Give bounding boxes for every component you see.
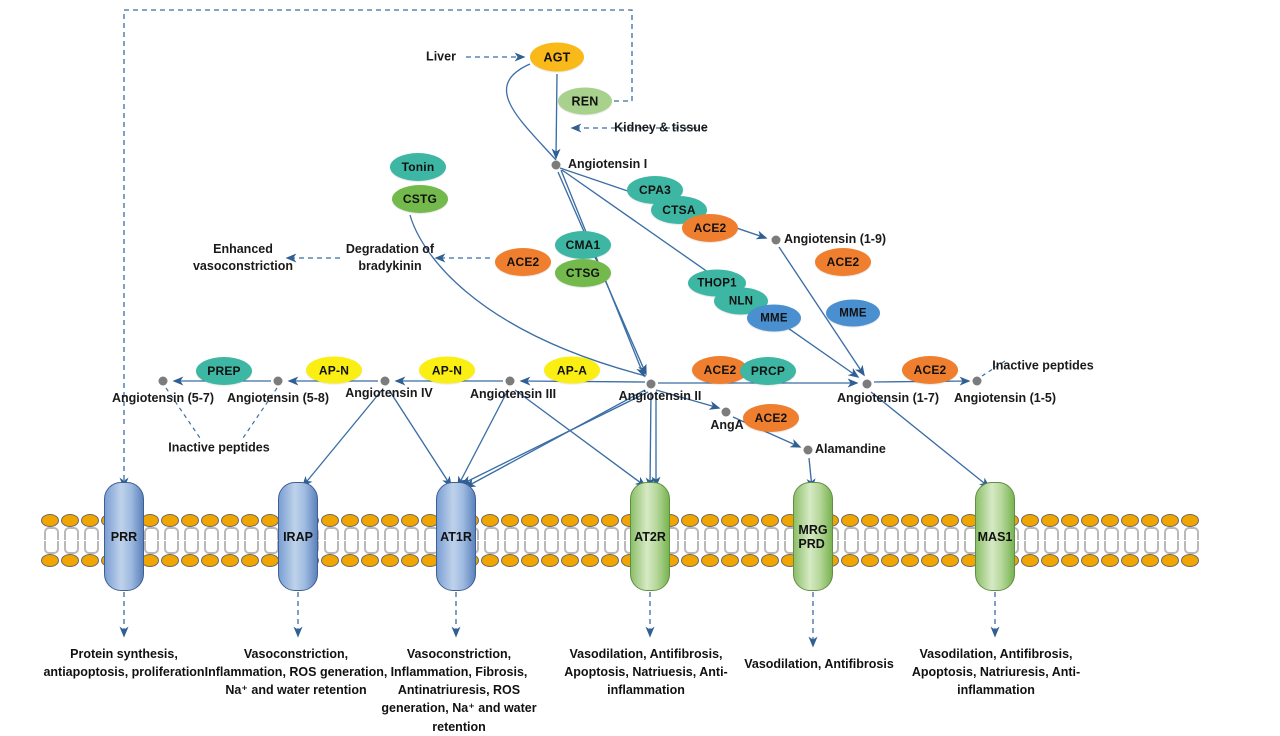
lipid-tail	[60, 527, 80, 554]
metabolite-dot-ang3[interactable]	[506, 377, 515, 386]
metabolite-label-alaman: Alamandine	[815, 442, 886, 456]
lipid-head	[1080, 553, 1100, 568]
lipid-head	[600, 553, 620, 568]
enzyme-label: PRCP	[751, 364, 785, 378]
lipid-head	[160, 553, 180, 568]
lipid-tail	[740, 527, 760, 554]
enzyme-label: MME	[839, 307, 866, 319]
lipid-tail	[240, 527, 260, 554]
lipid-head	[1140, 553, 1160, 568]
receptor-at2r[interactable]: AT2R	[630, 482, 670, 591]
annotation-inactive-right: Inactive peptides	[992, 358, 1093, 375]
metabolite-dot-ang1[interactable]	[552, 161, 561, 170]
lipid-head	[260, 553, 280, 568]
lipid-head	[760, 553, 780, 568]
lipid-tail	[480, 527, 500, 554]
metabolite-dot-alaman[interactable]	[804, 446, 813, 455]
lipid-head	[400, 553, 420, 568]
lipid-head	[920, 553, 940, 568]
annotation-enhanced-vc: Enhancedvasoconstriction	[193, 241, 293, 275]
lipid-head	[940, 553, 960, 568]
lipid-head	[1100, 513, 1120, 528]
enzyme-label: AP-A	[557, 363, 587, 377]
lipid-head	[860, 553, 880, 568]
metabolite-dot-ang1-7[interactable]	[863, 380, 872, 389]
receptor-mas1[interactable]: MAS1	[975, 482, 1015, 591]
lipid-head	[320, 513, 340, 528]
enzyme-label: Tonin	[402, 160, 435, 174]
enzyme-label: REN	[572, 94, 599, 108]
lipid-head	[880, 553, 900, 568]
lipid-tail	[1120, 527, 1140, 554]
lipid-head	[1180, 513, 1200, 528]
enzyme-label: NLN	[729, 295, 753, 307]
lipid-head	[1160, 553, 1180, 568]
enzyme-node-cstg[interactable]: CSTG	[392, 185, 448, 213]
enzyme-node-ren[interactable]: REN	[558, 88, 612, 115]
metabolite-label-ang1: Angiotensin I	[568, 157, 647, 171]
lipid-head	[380, 553, 400, 568]
lipid-head	[1140, 513, 1160, 528]
receptor-label: PRR	[111, 530, 137, 544]
effect-text-mrgprd-effect: Vasodilation, Antifibrosis	[719, 655, 919, 673]
lipid-tail	[180, 527, 200, 554]
annotation-inactive-left: Inactive peptides	[168, 440, 269, 457]
lipid-head	[1020, 513, 1040, 528]
lipid-tail	[1080, 527, 1100, 554]
lipid-head	[720, 553, 740, 568]
lipid-head	[680, 513, 700, 528]
lipid-head	[480, 553, 500, 568]
enzyme-node-ace2-1-9[interactable]: ACE2	[682, 214, 738, 242]
lipid-tail	[160, 527, 180, 554]
enzyme-label: ACE2	[704, 363, 737, 377]
receptor-label: AT1R	[440, 530, 472, 544]
enzyme-node-mme-1[interactable]: MME	[747, 305, 801, 332]
annotation-kidney: Kidney & tissue	[614, 120, 708, 137]
metabolite-dot-ang5-8[interactable]	[274, 377, 283, 386]
ras-pathway-diagram: AGTRENToninCSTGCPA3CTSAACE2CMA1CTSGACE2T…	[0, 0, 1280, 720]
effect-text-at2r-effect: Vasodilation, Antifibrosis, Apoptosis, N…	[561, 645, 731, 699]
lipid-head	[1120, 553, 1140, 568]
enzyme-node-apn-2[interactable]: AP-N	[419, 357, 475, 384]
lipid-tail	[340, 527, 360, 554]
membrane-inner-heads	[40, 553, 1200, 568]
receptor-label: MRGPRD	[798, 523, 827, 551]
metabolite-label-ang1-5: Angiotensin (1-5)	[954, 391, 1056, 405]
lipid-bilayer-membrane	[40, 513, 1200, 568]
enzyme-label: ACE2	[694, 221, 727, 235]
annotation-degradation: Degradation ofbradykinin	[346, 241, 434, 275]
lipid-head	[180, 553, 200, 568]
lipid-tail	[80, 527, 100, 554]
lipid-head	[1060, 553, 1080, 568]
lipid-head	[940, 513, 960, 528]
lipid-head	[540, 513, 560, 528]
lipid-head	[480, 513, 500, 528]
receptor-label: AT2R	[634, 530, 666, 544]
annotation-liver: Liver	[426, 49, 456, 66]
enzyme-label: AP-N	[319, 363, 349, 377]
lipid-tail	[900, 527, 920, 554]
lipid-head	[500, 553, 520, 568]
lipid-head	[900, 513, 920, 528]
enzyme-label: ACE2	[827, 255, 860, 269]
lipid-head	[40, 553, 60, 568]
lipid-tail	[860, 527, 880, 554]
lipid-head	[80, 553, 100, 568]
lipid-tail	[920, 527, 940, 554]
lipid-head	[40, 513, 60, 528]
lipid-head	[400, 513, 420, 528]
lipid-head	[220, 513, 240, 528]
metabolite-label-ang3: Angiotensin III	[470, 387, 556, 401]
metabolite-label-anga: AngA	[710, 418, 743, 432]
lipid-tail	[360, 527, 380, 554]
enzyme-node-tonin[interactable]: Tonin	[390, 153, 446, 181]
lipid-tail	[520, 527, 540, 554]
lipid-head	[200, 513, 220, 528]
lipid-head	[880, 513, 900, 528]
lipid-head	[860, 513, 880, 528]
lipid-head	[900, 553, 920, 568]
lipid-tail	[560, 527, 580, 554]
effect-text-prr-effect: Protein synthesis, antiapoptosis, prolif…	[29, 645, 219, 681]
effect-text-mas1-effect: Vasodilation, Antifibrosis, Apoptosis, N…	[906, 645, 1086, 699]
lipid-tail	[720, 527, 740, 554]
enzyme-node-ace2-mme[interactable]: ACE2	[815, 248, 871, 276]
lipid-head	[560, 513, 580, 528]
lipid-head	[1180, 553, 1200, 568]
lipid-tail	[380, 527, 400, 554]
lipid-tail	[840, 527, 860, 554]
enzyme-node-cma1[interactable]: CMA1	[555, 231, 611, 259]
lipid-head	[60, 553, 80, 568]
enzyme-node-apa[interactable]: AP-A	[544, 357, 600, 384]
enzyme-label: CPA3	[639, 183, 671, 197]
enzyme-label: ACE2	[755, 411, 788, 425]
lipid-tail	[320, 527, 340, 554]
lipid-head	[240, 513, 260, 528]
metabolite-dot-ang2[interactable]	[647, 380, 656, 389]
metabolite-label-ang1-9: Angiotensin (1-9)	[784, 232, 886, 246]
lipid-tail	[200, 527, 220, 554]
lipid-head	[160, 513, 180, 528]
enzyme-label: CTSA	[662, 203, 695, 217]
lipid-head	[360, 553, 380, 568]
metabolite-label-ang4: Angiotensin IV	[345, 386, 433, 400]
enzyme-label: MME	[760, 312, 787, 324]
effect-text-irap-effect: Vasoconstriction, Inflammation, ROS gene…	[204, 645, 389, 699]
metabolite-label-ang5-7: Angiotensin (5-7)	[112, 391, 214, 405]
metabolite-label-ang2: Angiotensin II	[619, 389, 702, 403]
enzyme-label: CSTG	[403, 192, 437, 206]
metabolite-dot-ang5-7[interactable]	[159, 377, 168, 386]
membrane-outer-heads	[40, 513, 1200, 528]
lipid-tail	[580, 527, 600, 554]
lipid-head	[580, 553, 600, 568]
metabolite-dot-ang1-5[interactable]	[973, 377, 982, 386]
lipid-tail	[1180, 527, 1200, 554]
lipid-tail	[260, 527, 280, 554]
lipid-head	[840, 513, 860, 528]
lipid-tail	[1140, 527, 1160, 554]
lipid-head	[220, 553, 240, 568]
lipid-head	[1060, 513, 1080, 528]
lipid-tail	[400, 527, 420, 554]
lipid-head	[240, 553, 260, 568]
lipid-head	[740, 553, 760, 568]
enzyme-label: THOP1	[697, 277, 736, 289]
enzyme-node-mme-2[interactable]: MME	[826, 300, 880, 327]
metabolite-dot-ang4[interactable]	[381, 377, 390, 386]
lipid-tail	[1040, 527, 1060, 554]
enzyme-node-prep[interactable]: PREP	[196, 357, 252, 385]
lipid-head	[1120, 513, 1140, 528]
lipid-tail	[700, 527, 720, 554]
lipid-head	[360, 513, 380, 528]
lipid-head	[580, 513, 600, 528]
lipid-head	[540, 553, 560, 568]
enzyme-node-ace2-brady[interactable]: ACE2	[495, 248, 551, 276]
lipid-tail	[500, 527, 520, 554]
membrane-tails	[40, 527, 1200, 554]
lipid-tail	[40, 527, 60, 554]
lipid-head	[600, 513, 620, 528]
lipid-head	[80, 513, 100, 528]
metabolite-label-ang1-7: Angiotensin (1-7)	[837, 391, 939, 405]
lipid-head	[1020, 553, 1040, 568]
lipid-head	[340, 513, 360, 528]
enzyme-label: AGT	[544, 50, 571, 64]
lipid-head	[180, 513, 200, 528]
lipid-head	[260, 513, 280, 528]
enzyme-node-ace2-1-5[interactable]: ACE2	[902, 356, 958, 384]
receptor-mrgprd[interactable]: MRGPRD	[793, 482, 833, 591]
lipid-head	[760, 513, 780, 528]
receptor-label: IRAP	[283, 530, 313, 544]
lipid-tail	[600, 527, 620, 554]
lipid-head	[500, 513, 520, 528]
receptor-at1r[interactable]: AT1R	[436, 482, 476, 591]
lipid-head	[1040, 513, 1060, 528]
enzyme-label: AP-N	[432, 363, 462, 377]
lipid-head	[380, 513, 400, 528]
enzyme-node-agt[interactable]: AGT	[530, 43, 584, 72]
effect-text-at1r-effect: Vasoconstriction, Inflammation, Fibrosis…	[367, 645, 552, 736]
lipid-head	[320, 553, 340, 568]
receptor-label: MAS1	[978, 530, 1013, 544]
lipid-head	[700, 553, 720, 568]
lipid-tail	[760, 527, 780, 554]
lipid-head	[1080, 513, 1100, 528]
enzyme-label: CMA1	[566, 238, 601, 252]
lipid-head	[520, 553, 540, 568]
metabolite-dot-ang1-9[interactable]	[772, 236, 781, 245]
enzyme-node-apn-1[interactable]: AP-N	[306, 357, 362, 384]
enzyme-label: ACE2	[914, 363, 947, 377]
lipid-head	[700, 513, 720, 528]
lipid-tail	[540, 527, 560, 554]
receptor-irap[interactable]: IRAP	[278, 482, 318, 591]
lipid-head	[840, 553, 860, 568]
lipid-head	[920, 513, 940, 528]
lipid-tail	[940, 527, 960, 554]
enzyme-node-ace2-alam[interactable]: ACE2	[743, 404, 799, 432]
metabolite-label-ang5-8: Angiotensin (5-8)	[227, 391, 329, 405]
lipid-head	[60, 513, 80, 528]
lipid-head	[740, 513, 760, 528]
lipid-head	[1040, 553, 1060, 568]
lipid-head	[720, 513, 740, 528]
enzyme-label: ACE2	[507, 255, 540, 269]
enzyme-label: PREP	[207, 364, 240, 378]
lipid-head	[1100, 553, 1120, 568]
lipid-head	[1160, 513, 1180, 528]
lipid-tail	[220, 527, 240, 554]
lipid-tail	[1060, 527, 1080, 554]
lipid-tail	[880, 527, 900, 554]
lipid-tail	[680, 527, 700, 554]
lipid-head	[560, 553, 580, 568]
metabolite-dot-anga[interactable]	[722, 408, 731, 417]
lipid-head	[520, 513, 540, 528]
lipid-tail	[1100, 527, 1120, 554]
receptor-prr[interactable]: PRR	[104, 482, 144, 591]
lipid-head	[340, 553, 360, 568]
lipid-tail	[1020, 527, 1040, 554]
lipid-head	[200, 553, 220, 568]
enzyme-label: CTSG	[566, 266, 600, 280]
lipid-head	[680, 553, 700, 568]
enzyme-node-prcp[interactable]: PRCP	[740, 357, 796, 385]
lipid-tail	[1160, 527, 1180, 554]
enzyme-node-ctsg[interactable]: CTSG	[555, 259, 611, 287]
